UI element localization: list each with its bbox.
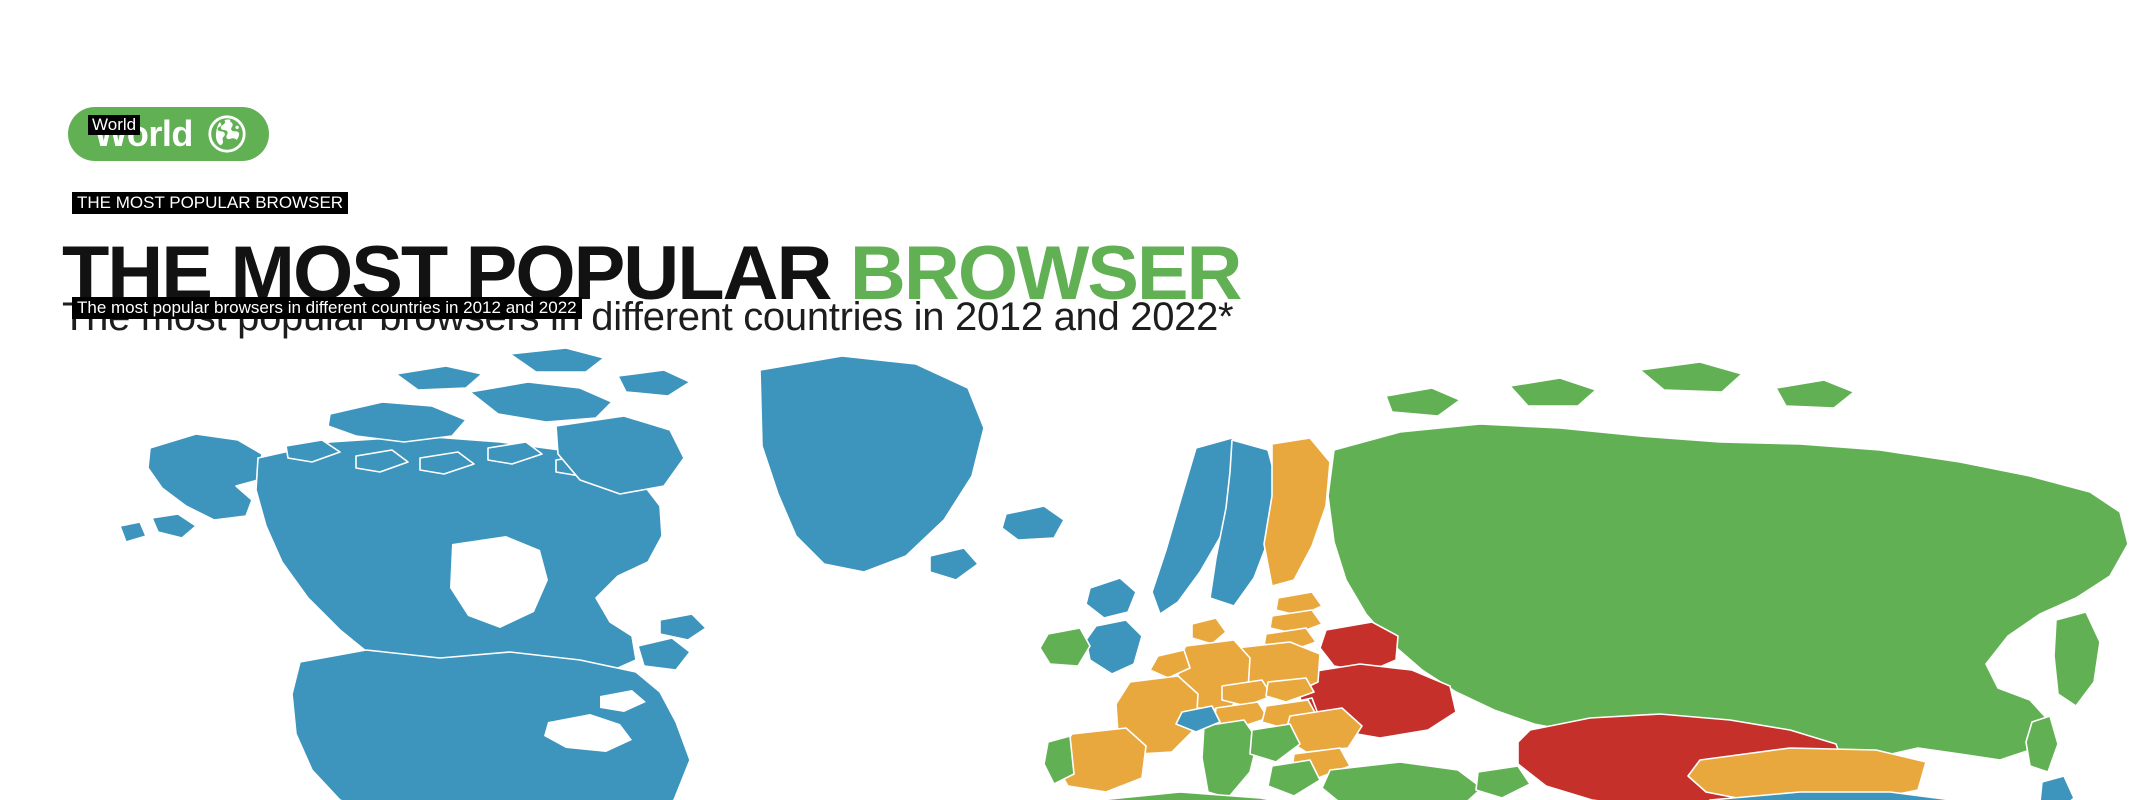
annotation-label-subtitle: The most popular browsers in different c… <box>72 297 582 319</box>
map-region-north-america <box>120 348 1064 800</box>
map-region-russia <box>1328 362 2128 782</box>
globe-icon <box>207 114 247 154</box>
map-region-japan <box>2034 776 2094 800</box>
world-choropleth-map[interactable] <box>0 330 2133 800</box>
annotation-label-headline: THE MOST POPULAR BROWSER <box>72 192 348 214</box>
infographic-content: World THE MOST POPULAR BROWSER The most … <box>0 0 2133 800</box>
annotation-label-world: World <box>88 115 140 135</box>
